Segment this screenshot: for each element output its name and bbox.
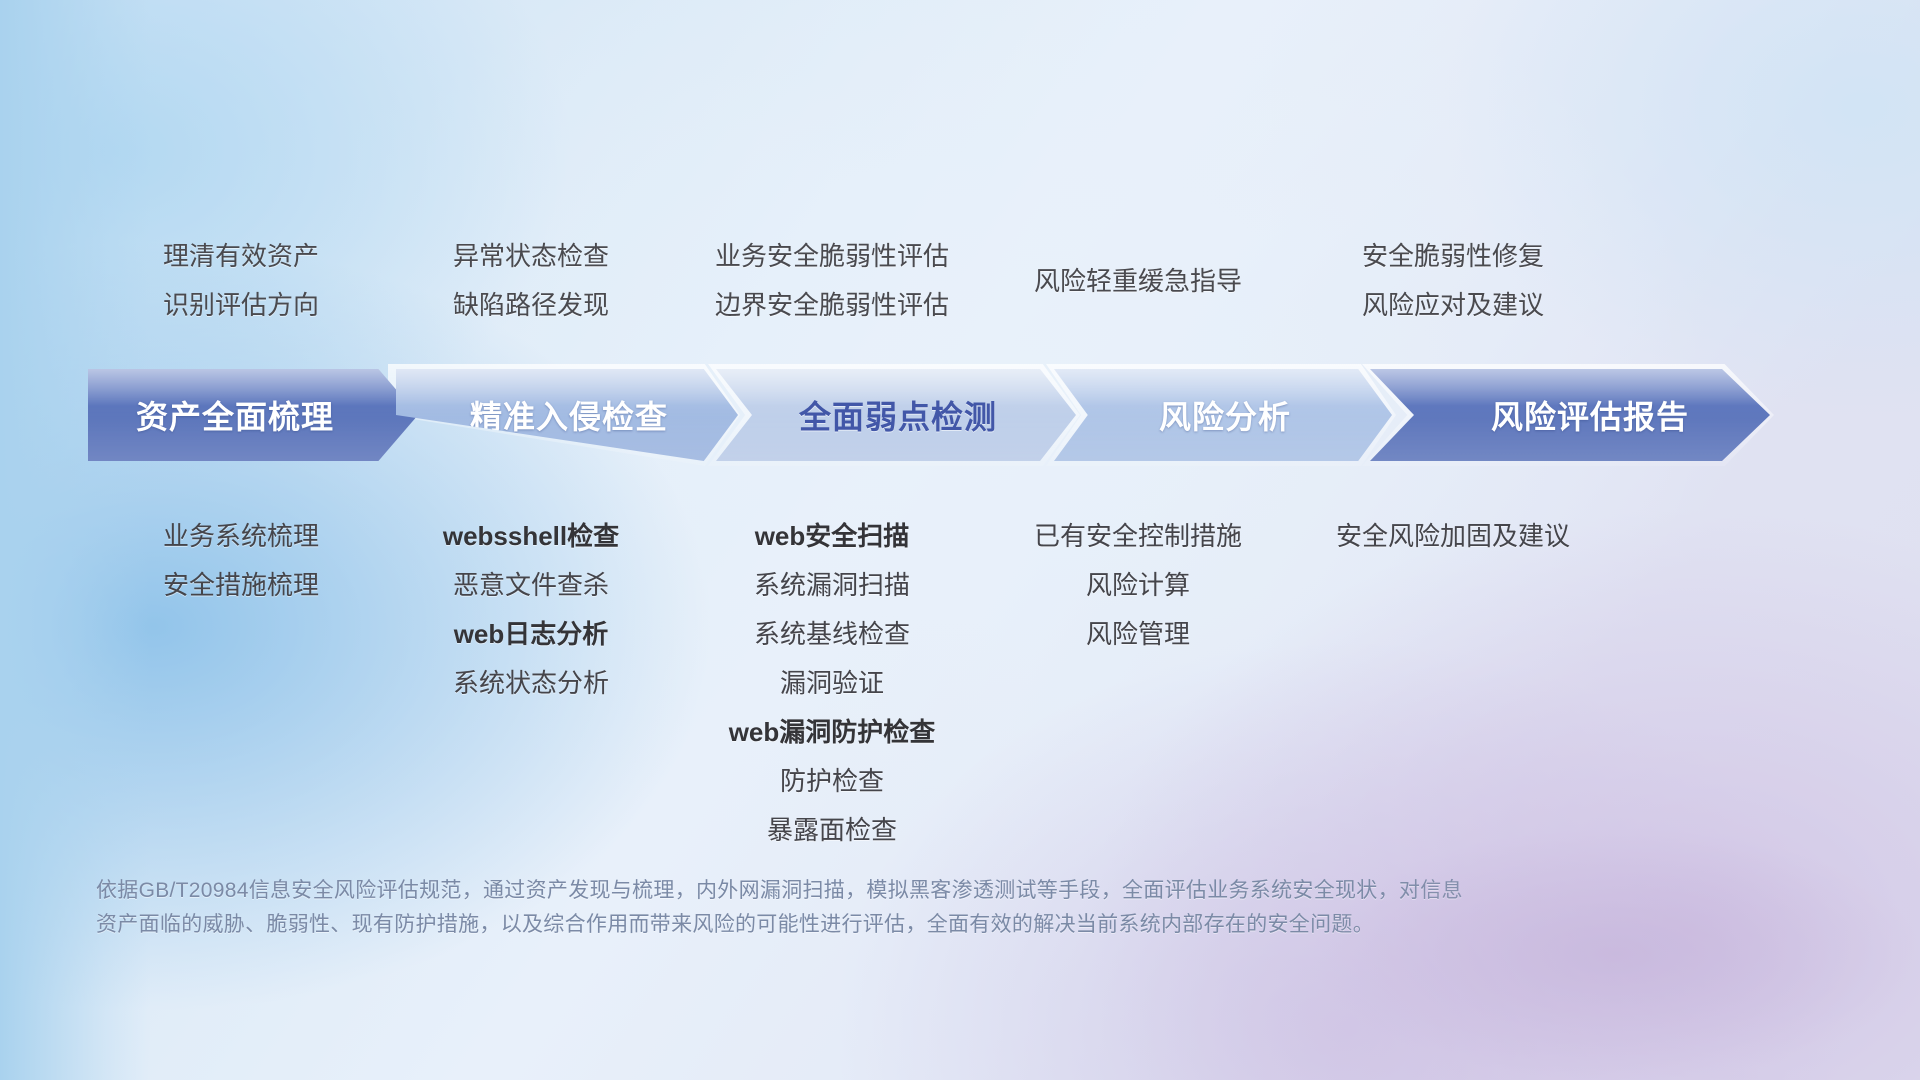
infographic-slide: 理清有效资产 识别评估方向 业务系统梳理 安全措施梳理 异常状态检查 缺陷路径发…: [0, 0, 1920, 1080]
stage-3-bottom-item: web安全扫描: [676, 512, 988, 561]
stage-3-bottom-item: 漏洞验证: [676, 659, 988, 708]
chevron-stage-5[interactable]: 风险评估报告: [1370, 369, 1770, 461]
stage-4-bottom-list: 已有安全控制措施 风险计算 风险管理: [988, 512, 1288, 659]
stage-3-top-item: 业务安全脆弱性评估: [676, 232, 988, 281]
footer-line-2: 资产面临的威胁、脆弱性、现有防护措施，以及综合作用而带来风险的可能性进行评估，全…: [96, 908, 1656, 942]
stage-1-top-list: 理清有效资产 识别评估方向: [96, 232, 386, 330]
stage-1-top-item: 识别评估方向: [96, 281, 386, 330]
stage-2-bottom-item: 系统状态分析: [386, 659, 676, 708]
stage-2-top-item: 缺陷路径发现: [386, 281, 676, 330]
stage-2-bottom-list: websshell检查 恶意文件查杀 web日志分析 系统状态分析: [386, 512, 676, 708]
stage-3-bottom-item-text: web安全扫描: [755, 521, 910, 551]
stage-4-bottom-item: 风险计算: [988, 561, 1288, 610]
footer-description: 依据GB/T20984信息安全风险评估规范，通过资产发现与梳理，内外网漏洞扫描，…: [96, 874, 1656, 942]
chevron-stage-4[interactable]: 风险分析: [1054, 369, 1392, 461]
chevron-stage-5-label: 风险评估报告: [1491, 392, 1689, 438]
chevron-stage-4-label: 风险分析: [1159, 392, 1291, 438]
process-chevron-band: 资产全面梳理 精准入侵检查 全面弱点检测 风险分析 风险评估报告: [88, 369, 1848, 461]
stage-5-top-list: 安全脆弱性修复 风险应对及建议: [1288, 232, 1618, 330]
chevron-stage-2[interactable]: 精准入侵检查: [396, 369, 738, 461]
chevron-stage-1-label: 资产全面梳理: [136, 392, 334, 438]
stage-5-bottom-list: 安全风险加固及建议: [1288, 512, 1618, 561]
footer-line-1: 依据GB/T20984信息安全风险评估规范，通过资产发现与梳理，内外网漏洞扫描，…: [96, 874, 1656, 908]
stage-4-bottom-item: 风险管理: [988, 610, 1288, 659]
chevron-stage-3-label: 全面弱点检测: [799, 392, 997, 438]
stage-1-bottom-list: 业务系统梳理 安全措施梳理: [96, 512, 386, 610]
stage-3-bottom-list: web安全扫描 系统漏洞扫描 系统基线检查 漏洞验证 web漏洞防护检查 防护检…: [676, 512, 988, 855]
stage-3-bottom-item: 系统漏洞扫描: [676, 561, 988, 610]
stage-2-bottom-item: 恶意文件查杀: [386, 561, 676, 610]
stage-2-bottom-item-text: websshell检查: [443, 521, 619, 551]
stage-3-bottom-item-text: web漏洞防护检查: [729, 717, 936, 747]
stage-4-bottom-item: 已有安全控制措施: [988, 512, 1288, 561]
stage-3-top-item: 边界安全脆弱性评估: [676, 281, 988, 330]
stage-2-bottom-item: web日志分析: [386, 610, 676, 659]
stage-3-bottom-item: 暴露面检查: [676, 806, 988, 855]
stage-1-bottom-item: 安全措施梳理: [96, 561, 386, 610]
stage-2-bottom-item-text: web日志分析: [454, 619, 609, 649]
stage-2-top-item: 异常状态检查: [386, 232, 676, 281]
chevron-stage-1[interactable]: 资产全面梳理: [88, 369, 418, 461]
stage-3-bottom-item: web漏洞防护检查: [676, 708, 988, 757]
stage-4-top-item: 风险轻重缓急指导: [988, 257, 1288, 306]
stage-1-bottom-item: 业务系统梳理: [96, 512, 386, 561]
stage-3-bottom-item: 防护检查: [676, 757, 988, 806]
stage-1-top-item: 理清有效资产: [96, 232, 386, 281]
stage-5-top-item: 安全脆弱性修复: [1288, 232, 1618, 281]
stage-3-top-list: 业务安全脆弱性评估 边界安全脆弱性评估: [676, 232, 988, 330]
stage-3-bottom-item: 系统基线检查: [676, 610, 988, 659]
stage-4-top-list: 风险轻重缓急指导: [988, 257, 1288, 306]
stage-5-bottom-item: 安全风险加固及建议: [1288, 512, 1618, 561]
chevron-stage-3[interactable]: 全面弱点检测: [716, 369, 1076, 461]
stage-5-top-item: 风险应对及建议: [1288, 281, 1618, 330]
stage-2-bottom-item: websshell检查: [386, 512, 676, 561]
stage-2-top-list: 异常状态检查 缺陷路径发现: [386, 232, 676, 330]
